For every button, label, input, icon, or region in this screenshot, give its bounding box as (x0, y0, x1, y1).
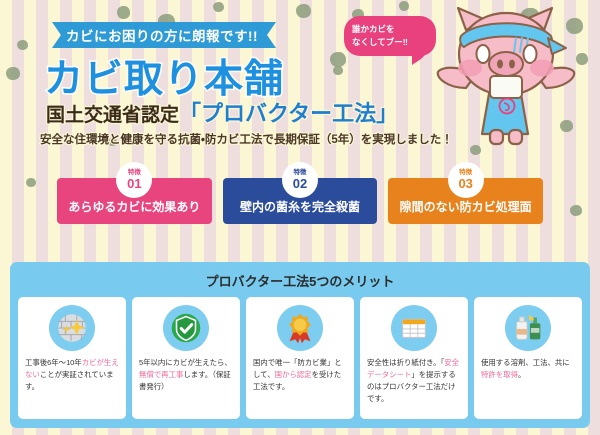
merit-card[interactable]: 工事後6年〜10年カビが生えないことが実証されています。 (18, 297, 126, 419)
hero-lead-text: 安全な住環境と健康を守る抗菌・防カビ工法で長期保証（5年）を実現しました！ (40, 131, 453, 147)
merit-text-highlight: 無償で再工事 (139, 370, 183, 379)
data-sheet-document-icon (391, 305, 437, 351)
mascot-speech-bubble: 誰かカビを なくしてブー‼ (344, 16, 436, 56)
hero-subtitle-accent: 「プロバクター工法」 (179, 101, 398, 126)
merit-card-text: 安全性は折り紙付き。「安全データシート」を提示するのはプロバクター工法だけです。 (367, 357, 461, 405)
merit-card[interactable]: 安全性は折り紙付き。「安全データシート」を提示するのはプロバクター工法だけです。 (360, 297, 468, 419)
mold-blob-icon (330, 52, 346, 67)
mold-blob-icon (570, 205, 582, 216)
speech-bubble-line-1: 誰かカビを (352, 23, 428, 36)
brick-wall-sparkle-icon (49, 305, 95, 351)
mold-blob-icon (333, 66, 343, 75)
feature-box-text: 隙間のない防カビ処理面 (400, 198, 532, 215)
mold-blob-icon (6, 67, 20, 80)
feature-badge-number: 02 (293, 177, 307, 190)
hero-ribbon-text: カビにお困りの方に朗報です!! (66, 25, 258, 45)
hero-subtitle: 国土交通省認定「プロバクター工法」 (46, 96, 398, 128)
feature-badge-01: 特徴 01 (116, 162, 152, 198)
merit-card-text: 使用する溶剤、工法、共に特許を取得。 (481, 357, 575, 381)
feature-box-03[interactable]: 特徴 03 隙間のない防カビ処理面 (388, 178, 543, 224)
merit-text-segment: 。 (518, 370, 525, 379)
pig-mascot-icon (432, 2, 582, 154)
merit-card-list: 工事後6年〜10年カビが生えないことが実証されています。 5年以内にカビが生えた… (18, 297, 582, 419)
mold-blob-icon (26, 178, 36, 187)
merit-text-highlight: 特許を取得 (481, 370, 518, 379)
feature-badge-number: 03 (458, 177, 472, 190)
feature-box-02[interactable]: 特徴 02 壁内の菌糸を完全殺菌 (223, 178, 378, 224)
mold-blob-icon (117, 6, 130, 19)
merits-panel: プロバクター工法5つのメリット (10, 262, 590, 428)
merits-panel-title: プロバクター工法5つのメリット (18, 269, 582, 297)
mold-blob-icon (296, 4, 311, 18)
hero-subtitle-plain: 国土交通省認定 (46, 105, 179, 126)
merit-card[interactable]: 5年以内にカビが生えたら、無償で再工事します。（保証書発行） (132, 297, 240, 419)
bottle-spray-cleaner-icon (505, 305, 551, 351)
merit-text-segment: 5年以内にカビが生えたら、 (139, 358, 232, 367)
merit-text-segment: 使用する溶剤、工法、共に (481, 358, 570, 367)
feature-badge-02: 特徴 02 (282, 162, 318, 198)
feature-box-text: あらゆるカビに効果あり (68, 198, 200, 215)
feature-badge-number: 01 (127, 177, 141, 190)
mold-blob-icon (17, 40, 28, 50)
mold-blob-icon (399, 1, 409, 11)
feature-box-01[interactable]: 特徴 01 あらゆるカビに効果あり (57, 178, 212, 224)
landing-page: カビにお困りの方に朗報です!! カビ取り本舗 国土交通省認定「プロバクター工法」… (0, 0, 600, 435)
merit-card-text: 5年以内にカビが生えたら、無償で再工事します。（保証書発行） (139, 357, 233, 393)
merit-card-text: 国内で唯一「防カビ業」として、国から認定を受けた工法です。 (253, 357, 347, 393)
speech-bubble-line-2: なくしてブー‼ (352, 36, 428, 49)
gold-medal-rosette-icon (277, 305, 323, 351)
merit-card[interactable]: 使用する溶剤、工法、共に特許を取得。 (474, 297, 582, 419)
green-shield-check-icon (163, 305, 209, 351)
mold-blob-icon (213, 2, 224, 12)
feature-badge-03: 特徴 03 (448, 162, 484, 198)
feature-box-text: 壁内の菌糸を完全殺菌 (240, 198, 360, 215)
pig-mascot (432, 2, 582, 154)
feature-box-list: 特徴 01 あらゆるカビに効果あり 特徴 02 壁内の菌糸を完全殺菌 特徴 03… (57, 178, 543, 224)
merit-card[interactable]: 国内で唯一「防カビ業」として、国から認定を受けた工法です。 (246, 297, 354, 419)
merit-card-text: 工事後6年〜10年カビが生えないことが実証されています。 (25, 357, 119, 393)
merit-text-highlight: 国から認定 (275, 370, 312, 379)
hero-ribbon-banner: カビにお困りの方に朗報です!! (52, 22, 276, 48)
merit-text-segment: 安全性は折り紙付き。「 (367, 358, 444, 367)
merit-text-segment: 工事後6年〜10年 (25, 358, 82, 367)
